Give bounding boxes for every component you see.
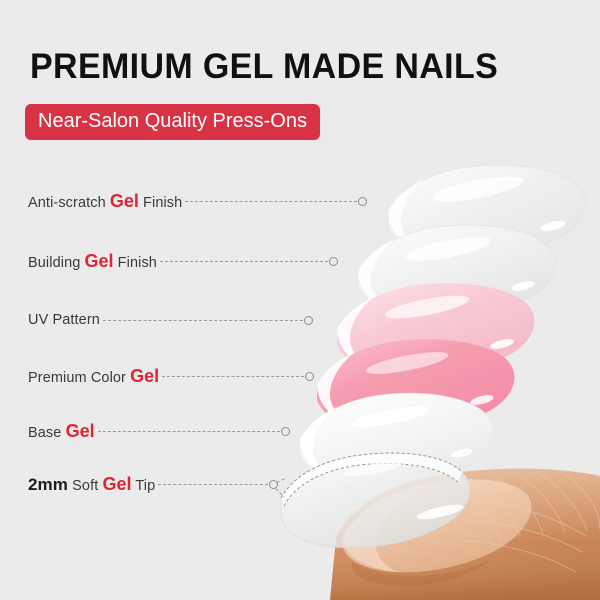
layer-shape-2mm-soft-gel-tip: [272, 453, 470, 548]
leader-endpoint-icon-base-gel: [281, 427, 290, 436]
leader-endpoint-icon-uv-pattern: [304, 316, 313, 325]
layer-shape-uv-pattern: [337, 283, 534, 376]
layer-shape-anti-scratch-gel-finish: [388, 165, 585, 258]
layer-label-row-2mm-soft-gel-tip: 2mm Soft Gel Tip: [28, 471, 278, 497]
layer-label-text-building-gel-finish: Building Gel Finish: [28, 251, 157, 272]
leader-line-2mm-soft-gel-tip: [158, 484, 268, 486]
fingertip-illustration: [330, 469, 600, 600]
layer-label-text-2mm-soft-gel-tip: 2mm Soft Gel Tip: [28, 474, 155, 495]
leader-line-uv-pattern: [103, 320, 303, 322]
layer-shape-building-gel-finish: [358, 225, 555, 318]
layer-label-row-uv-pattern: UV Pattern: [28, 307, 313, 333]
nail-layers-illustration: [0, 0, 600, 600]
layer-label-text-anti-scratch-gel-finish: Anti-scratch Gel Finish: [28, 191, 182, 212]
leader-endpoint-icon-premium-color-gel: [305, 372, 314, 381]
layer-label-row-anti-scratch-gel-finish: Anti-scratch Gel Finish: [28, 188, 367, 214]
layer-label-text-premium-color-gel: Premium Color Gel: [28, 366, 159, 387]
leader-endpoint-icon-building-gel-finish: [329, 257, 338, 266]
layer-shape-base-gel: [300, 393, 493, 486]
leader-line-premium-color-gel: [162, 376, 304, 378]
leader-line-building-gel-finish: [160, 261, 328, 263]
layer-label-row-base-gel: Base Gel: [28, 418, 290, 444]
layer-label-text-base-gel: Base Gel: [28, 421, 95, 442]
page-title: PREMIUM GEL MADE NAILS: [30, 47, 498, 87]
subtitle-badge: Near-Salon Quality Press-Ons: [25, 104, 320, 140]
leader-line-base-gel: [98, 431, 280, 433]
layer-shape-premium-color-gel: [317, 339, 514, 432]
leader-endpoint-icon-anti-scratch-gel-finish: [358, 197, 367, 206]
infographic-canvas: PREMIUM GEL MADE NAILS Near-Salon Qualit…: [0, 0, 600, 600]
leader-line-anti-scratch-gel-finish: [185, 201, 357, 203]
leader-endpoint-icon-2mm-soft-gel-tip: [269, 480, 278, 489]
layer-label-row-building-gel-finish: Building Gel Finish: [28, 248, 338, 274]
layer-label-text-uv-pattern: UV Pattern: [28, 312, 100, 328]
layer-label-row-premium-color-gel: Premium Color Gel: [28, 363, 314, 389]
